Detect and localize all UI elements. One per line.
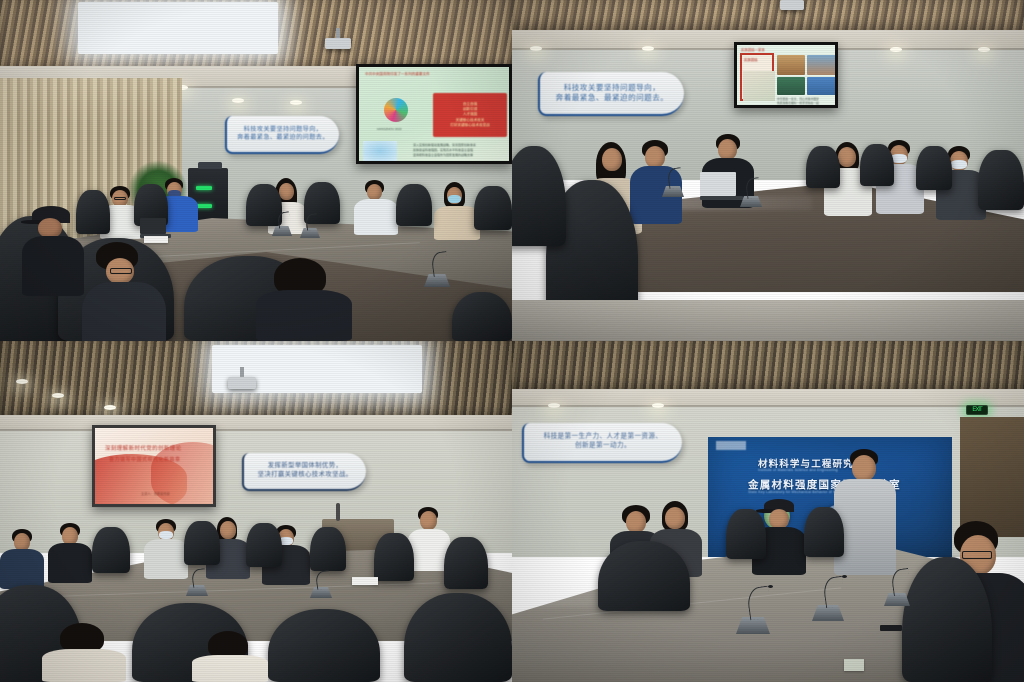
head <box>665 507 685 529</box>
floor <box>512 300 1024 341</box>
glasses <box>110 268 132 274</box>
wall-slogan-line-1: 科技是第一生产力、人才是第一资源、 <box>544 433 663 442</box>
microphone-gooseneck <box>667 167 684 189</box>
office-chair <box>246 523 282 567</box>
wall-slogan-line-2: 奔着最紧急、最紧迫的问题去。 <box>237 134 329 142</box>
rack-led-indicator <box>196 204 212 208</box>
downlight <box>52 393 64 398</box>
torso <box>144 539 188 579</box>
presentation-slide: 深刻理解新时代党的创新理论 奋力谱写中国式现代化新篇章 主讲人：党委宣传部 <box>95 428 213 504</box>
mobile-phone[interactable] <box>880 625 902 631</box>
panel-top-left: 科技攻关要坚持问题导向， 奔着最紧急、最紧迫的问题去。 中共中央国务院印发了一系… <box>0 0 512 341</box>
paper-document <box>352 577 378 585</box>
presentation-slide: 民族团结 民族团结一家亲 中华民族一家亲，同心共筑中国梦 各民族像石榴籽一样紧紧… <box>737 45 835 105</box>
laptop[interactable] <box>700 172 736 196</box>
ceiling-skylight <box>78 2 278 54</box>
head <box>718 139 737 160</box>
wall-slogan-line-1: 发挥新型举国体制优势， <box>268 462 343 471</box>
projection-screen: 深刻理解新时代党的创新理论 奋力谱写中国式现代化新篇章 主讲人：党委宣传部 <box>92 425 216 507</box>
wall-slogan-plaque: 科技攻关要坚持问题导向， 奔着最紧急、最紧迫的问题去。 <box>225 116 339 154</box>
exit-sign-label: EXIT <box>972 407 981 413</box>
microphone-gooseneck <box>191 568 207 588</box>
head <box>838 147 856 167</box>
head <box>220 521 236 539</box>
desk-lamp <box>336 503 340 521</box>
torso <box>256 290 352 341</box>
head <box>852 455 876 481</box>
downlight <box>290 100 302 105</box>
head <box>769 509 789 529</box>
office-chair <box>396 184 432 226</box>
slide-decor-graphic <box>363 141 397 161</box>
slide-logo-caption: HANGZHOU 2022 <box>377 127 402 132</box>
panel-bottom-right: 科技是第一生产力、人才是第一资源、 创新是第一动力。 材料科学与工程研究院 In… <box>512 341 1024 682</box>
slide-poster: 民族团结 <box>740 53 774 101</box>
wall-slogan-line-2: 创新是第一动力。 <box>575 442 631 451</box>
face-mask <box>448 195 461 203</box>
slide-text-line-2: 各民族像石榴籽一样紧紧抱在一起 <box>777 101 835 105</box>
microphone-gooseneck <box>430 251 449 277</box>
microphone-capsule <box>768 585 773 588</box>
downlight <box>548 403 560 408</box>
office-chair <box>374 533 414 581</box>
photo-collage: 科技攻关要坚持问题导向， 奔着最紧急、最紧迫的问题去。 中共中央国务院印发了一系… <box>0 0 1024 682</box>
office-chair-foreground <box>902 557 992 682</box>
office-chair <box>806 146 840 188</box>
office-chair <box>76 190 110 234</box>
head <box>367 184 382 200</box>
wooden-door[interactable] <box>960 417 1024 537</box>
ceiling-projector <box>228 377 256 389</box>
ceiling-wood-slats <box>512 0 1024 32</box>
downlight <box>642 46 654 51</box>
microphone-capsule <box>842 575 847 578</box>
office-chair <box>978 150 1024 210</box>
panel-bottom-left: 深刻理解新时代党的创新理论 奋力谱写中国式现代化新篇章 主讲人：党委宣传部 发挥… <box>0 341 512 682</box>
panel-top-right: 科技攻关要坚持问题导向， 奔着最紧急、最紧迫的问题去。 民族团结 民族团结一家亲… <box>512 0 1024 341</box>
presentation-slide: 中共中央国务院印发了一系列的重要文件 HANGZHOU 2022 自立自强 创新… <box>359 67 509 161</box>
office-chair <box>726 509 766 559</box>
torso <box>42 649 126 682</box>
wall-slogan-line-1: 科技攻关要坚持问题导向， <box>564 83 661 93</box>
slide-footer: 深入实施创新驱动发展战略，完善国家创新体系 加快建设科技强国，实现高水平科技自立… <box>413 143 509 157</box>
downlight <box>978 47 990 52</box>
office-chair <box>246 184 282 226</box>
rack-led-indicator <box>196 186 212 190</box>
wall-slogan-plaque: 科技攻关要坚持问题导向， 奔着最紧急、最紧迫的问题去。 <box>538 72 684 116</box>
face-mask <box>951 160 967 169</box>
slide-body-text: 中华民族一家亲，同心共筑中国梦 各民族像石榴籽一样紧紧抱在一起 铸牢中华民族共同… <box>777 97 835 105</box>
downlight <box>232 98 244 103</box>
slide-title-line-1: 深刻理解新时代党的创新理论 <box>105 444 182 452</box>
slide-title: 民族团结一家亲 <box>741 47 765 52</box>
office-chair <box>92 527 130 573</box>
red-box-line-5: 打好关键核心技术攻坚战 <box>450 123 490 128</box>
microphone-gooseneck <box>277 211 291 229</box>
office-chair <box>310 527 346 571</box>
office-chair-foreground <box>404 593 512 682</box>
ceiling-wood-slats <box>512 341 1024 391</box>
slide-red-callout: 自立自强 创新引领 人才强国 关键核心技术攻关 打好关键核心技术攻坚战 <box>433 93 507 137</box>
rack-top-unit <box>198 162 222 169</box>
office-chair <box>474 186 512 230</box>
torso <box>192 655 268 682</box>
office-chair <box>184 521 220 565</box>
downlight <box>104 405 116 410</box>
ceiling-projector <box>325 38 351 49</box>
downlight <box>530 46 542 51</box>
wall-slogan-line-1: 科技攻关要坚持问题导向， <box>244 126 323 134</box>
slide-photo <box>777 77 805 95</box>
torso <box>82 282 166 341</box>
wall-display: 民族团结 民族团结一家亲 中华民族一家亲，同心共筑中国梦 各民族像石榴籽一样紧紧… <box>734 42 838 108</box>
microphone-gooseneck <box>745 177 762 199</box>
downlight <box>652 403 664 408</box>
projection-screen: 中共中央国务院印发了一系列的重要文件 HANGZHOU 2022 自立自强 创新… <box>356 64 512 164</box>
office-chair <box>916 146 952 190</box>
poster-artwork <box>743 71 775 101</box>
wall-slogan-line-2: 坚决打赢关键核心技术攻坚战。 <box>258 471 353 480</box>
face-mask <box>159 531 173 539</box>
backdrop-line-1-en: Institute of Materials Science and Engin… <box>758 468 838 472</box>
head <box>645 146 665 168</box>
slide-title: 中共中央国务院印发了一系列的重要文件 <box>365 72 430 77</box>
torso <box>22 236 84 296</box>
downlight <box>16 379 28 384</box>
ceiling-projector <box>780 0 804 10</box>
office-chair-foreground <box>268 609 380 682</box>
head <box>420 511 437 530</box>
laptop[interactable] <box>140 218 166 234</box>
office-chair <box>804 507 844 557</box>
office-chair-foreground <box>598 541 690 611</box>
asian-games-emblem-icon <box>381 95 411 125</box>
glasses <box>962 551 992 559</box>
backdrop-logo-mark <box>716 441 746 450</box>
head <box>279 183 294 200</box>
head <box>38 218 62 238</box>
slide-photo <box>807 77 835 95</box>
slide-photo <box>777 55 805 75</box>
torso <box>48 543 92 583</box>
head <box>626 511 646 533</box>
head <box>602 148 622 171</box>
slide-footer-line-3: 坚持把科技自立自强作为国家发展的战略支撑 <box>413 153 509 158</box>
microphone-gooseneck <box>315 570 331 590</box>
microphone-gooseneck <box>305 213 319 231</box>
downlight <box>890 47 902 52</box>
wall-slogan-line-2: 奔着最紧急、最紧迫的问题去。 <box>556 93 669 103</box>
emergency-exit-sign-icon: EXIT <box>966 405 988 415</box>
slide-photo <box>807 55 835 75</box>
paper-document <box>144 236 168 243</box>
torso <box>354 199 398 235</box>
slide-footer: 主讲人：党委宣传部 <box>141 492 170 497</box>
glasses <box>114 197 126 200</box>
torso <box>0 549 44 589</box>
wall-slogan-plaque: 科技是第一生产力、人才是第一资源、 创新是第一动力。 <box>522 423 682 463</box>
office-chair <box>444 537 488 589</box>
poster-title: 民族团结 <box>744 57 758 62</box>
office-chair <box>860 144 894 186</box>
wall-slogan-plaque-3: 发挥新型举国体制优势， 坚决打赢关键核心技术攻坚战。 <box>242 453 366 491</box>
slide-title-line-2: 奋力谱写中国式现代化新篇章 <box>109 456 181 463</box>
small-card <box>844 659 864 671</box>
office-chair-foreground <box>452 292 512 341</box>
